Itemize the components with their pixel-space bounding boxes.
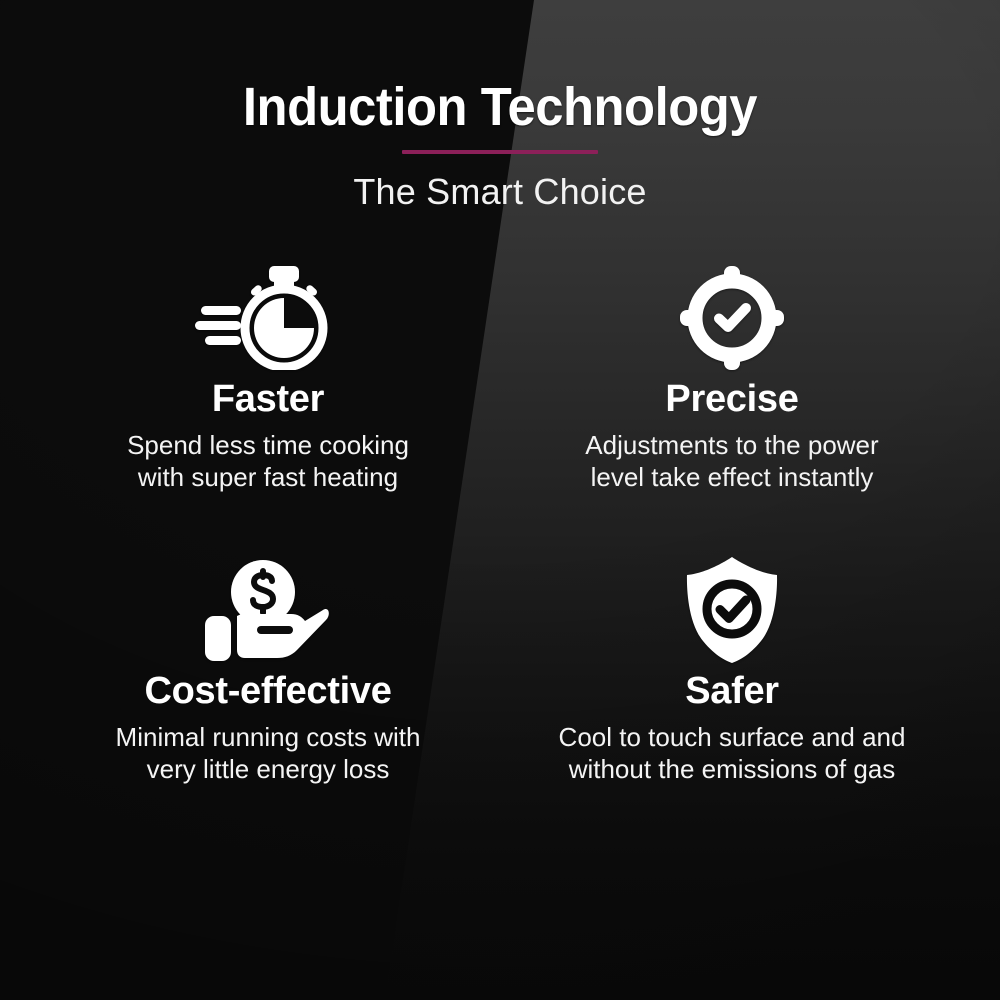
- feature-title: Safer: [685, 670, 779, 713]
- feature-description: Spend less time cooking with super fast …: [127, 430, 409, 493]
- page-subtitle: The Smart Choice: [0, 172, 1000, 212]
- feature-description: Cool to touch surface and and without th…: [559, 722, 906, 785]
- feature-title: Precise: [665, 378, 798, 421]
- induction-technology-infographic: Induction Technology The Smart Choice: [0, 0, 1000, 1000]
- poster-content: Induction Technology The Smart Choice: [0, 0, 1000, 1000]
- shield-check-icon: [683, 556, 781, 664]
- stopwatch-speed-icon: [195, 264, 341, 372]
- poster-header: Induction Technology The Smart Choice: [0, 0, 1000, 212]
- feature-card-precise: Precise Adjustments to the power level t…: [500, 264, 964, 494]
- feature-title: Faster: [212, 378, 324, 421]
- title-accent-rule: [402, 150, 598, 154]
- feature-description: Adjustments to the power level take effe…: [585, 430, 878, 493]
- feature-card-faster: Faster Spend less time cooking with supe…: [36, 264, 500, 494]
- feature-description: Minimal running costs with very little e…: [116, 722, 421, 785]
- feature-card-cost-effective: Cost-effective Minimal running costs wit…: [36, 556, 500, 786]
- feature-title: Cost-effective: [144, 670, 391, 713]
- hand-holding-coin-icon: [205, 556, 331, 664]
- page-title: Induction Technology: [30, 78, 970, 136]
- feature-card-safer: Safer Cool to touch surface and and with…: [500, 556, 964, 786]
- feature-grid: Faster Spend less time cooking with supe…: [0, 264, 1000, 786]
- target-check-icon: [680, 264, 784, 372]
